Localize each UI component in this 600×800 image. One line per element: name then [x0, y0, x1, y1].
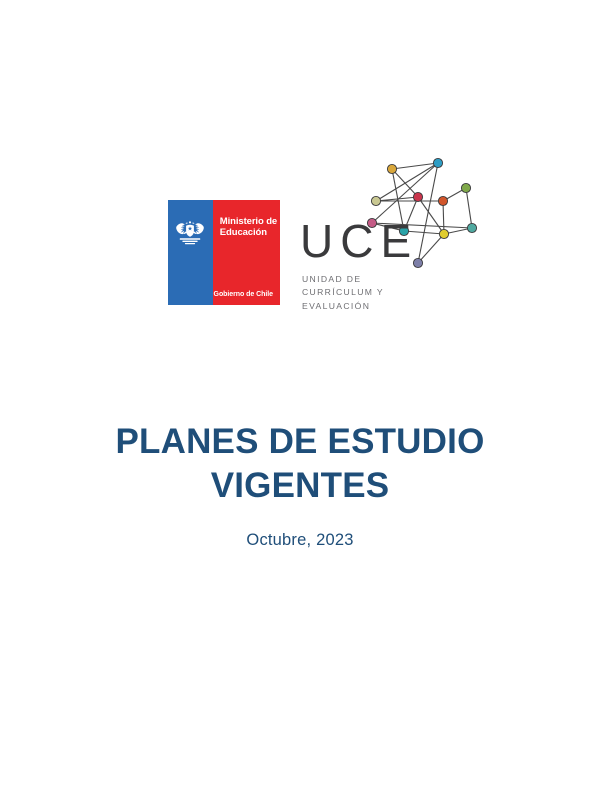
- ministry-name: Ministerio deEducación: [220, 216, 277, 239]
- graph-node: [467, 223, 476, 232]
- graph-node: [387, 164, 396, 173]
- flag-red-panel: Ministerio deEducación Gobierno de Chile: [213, 200, 280, 305]
- government-label: Gobierno de Chile: [214, 291, 273, 298]
- graph-node: [371, 196, 380, 205]
- flag-blue-panel: [168, 200, 213, 305]
- graph-edge: [376, 163, 438, 201]
- document-title: PLANES DE ESTUDIO VIGENTES: [0, 420, 600, 508]
- graph-edge: [392, 163, 438, 169]
- logo-band: Ministerio deEducación Gobierno de Chile…: [0, 150, 600, 325]
- graph-node: [413, 192, 422, 201]
- graph-node: [461, 183, 470, 192]
- coat-of-arms-chile-icon: [174, 217, 206, 247]
- document-title-line-1: PLANES DE ESTUDIO: [0, 420, 600, 464]
- ministry-name-line2: Educación: [220, 227, 267, 238]
- uce-subtitle: UNIDAD DE CURRÍCULUM Y EVALUACIÓN: [302, 273, 384, 313]
- uce-acronym: UCE: [300, 218, 418, 264]
- ministry-name-line1: Ministerio de: [220, 216, 277, 227]
- uce-logo: UCE UNIDAD DE CURRÍCULUM Y EVALUACIÓN: [300, 155, 480, 320]
- publication-date: Octubre, 2023: [0, 531, 600, 550]
- graph-node: [433, 158, 442, 167]
- graph-node: [438, 196, 447, 205]
- document-title-line-2: VIGENTES: [0, 464, 600, 508]
- graph-edge: [466, 188, 472, 228]
- ministerio-de-educacion-logo: Ministerio deEducación Gobierno de Chile: [168, 200, 280, 305]
- graph-node: [439, 229, 448, 238]
- graph-edge: [418, 234, 444, 263]
